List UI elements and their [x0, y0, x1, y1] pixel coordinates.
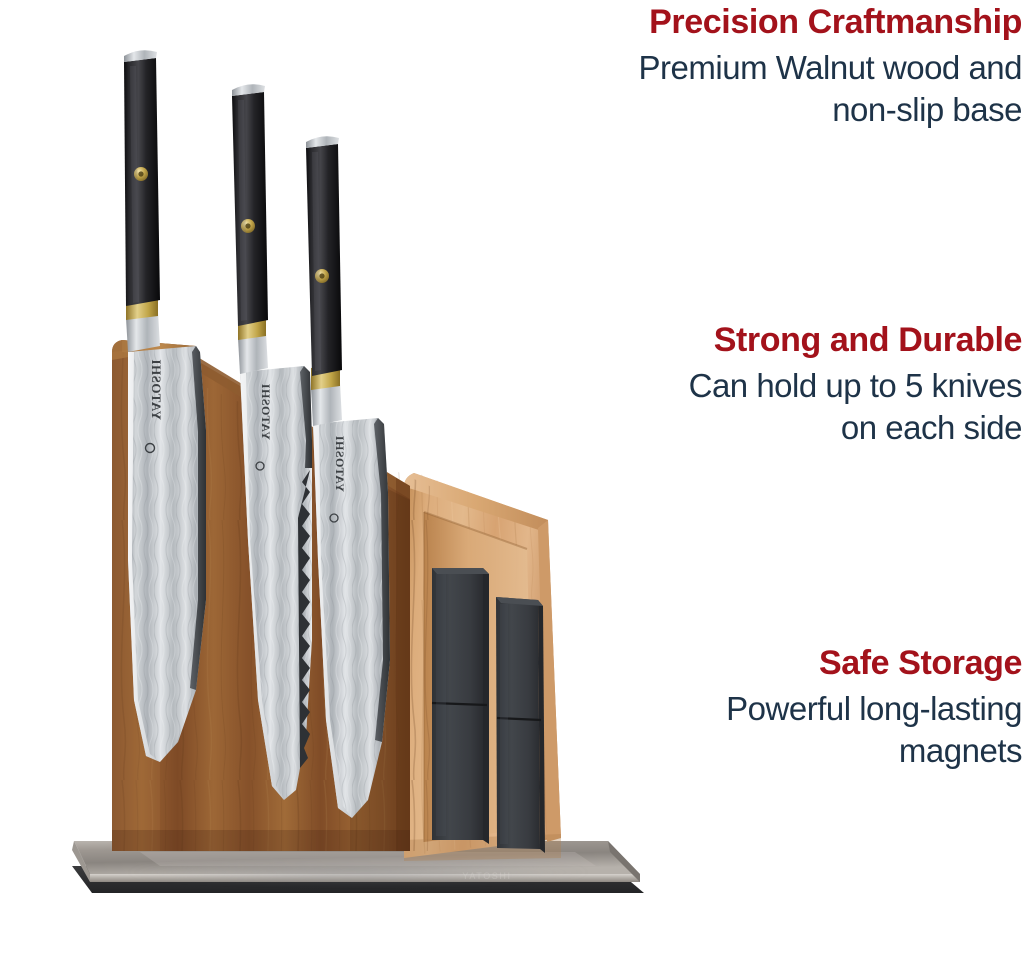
feature-description-line: magnets: [542, 730, 1022, 772]
base-brand-logo: YATOSHI: [462, 871, 511, 881]
feature-title: Safe Storage: [542, 645, 1022, 682]
feature-callouts: Precision Craftmanship Premium Walnut wo…: [520, 0, 1031, 969]
product-feature-banner: YATOSHI: [0, 0, 1031, 969]
feature-description-line: Powerful long-lasting: [542, 688, 1022, 730]
base-brand-text: YATOSHI: [462, 871, 511, 881]
feature-description-line: non-slip base: [542, 89, 1022, 131]
feature-description: Powerful long-lasting magnets: [542, 688, 1022, 772]
feature-description-line: Can hold up to 5 knives: [542, 365, 1022, 407]
feature-description-line: on each side: [542, 407, 1022, 449]
santoku-handle: [124, 50, 160, 306]
bread-brand-etch: YATOSHI: [259, 383, 273, 440]
feature-block-precision-craftmanship: Precision Craftmanship Premium Walnut wo…: [542, 4, 1022, 131]
magnet-strip-1: [432, 568, 489, 844]
feature-description: Premium Walnut wood and non-slip base: [542, 47, 1022, 131]
chef-brand-etch: YATOSHI: [333, 435, 347, 492]
chef-handle: [306, 136, 342, 376]
bread-handle: [232, 84, 268, 326]
feature-title: Strong and Durable: [542, 322, 1022, 359]
feature-title: Precision Craftmanship: [542, 4, 1022, 41]
feature-description-line: Premium Walnut wood and: [542, 47, 1022, 89]
feature-block-safe-storage: Safe Storage Powerful long-lasting magne…: [542, 645, 1022, 772]
feature-description: Can hold up to 5 knives on each side: [542, 365, 1022, 449]
santoku-knife: YATOSHI: [124, 50, 206, 762]
santoku-brand-etch: YATOSHI: [149, 359, 164, 420]
feature-block-strong-and-durable: Strong and Durable Can hold up to 5 kniv…: [542, 322, 1022, 449]
